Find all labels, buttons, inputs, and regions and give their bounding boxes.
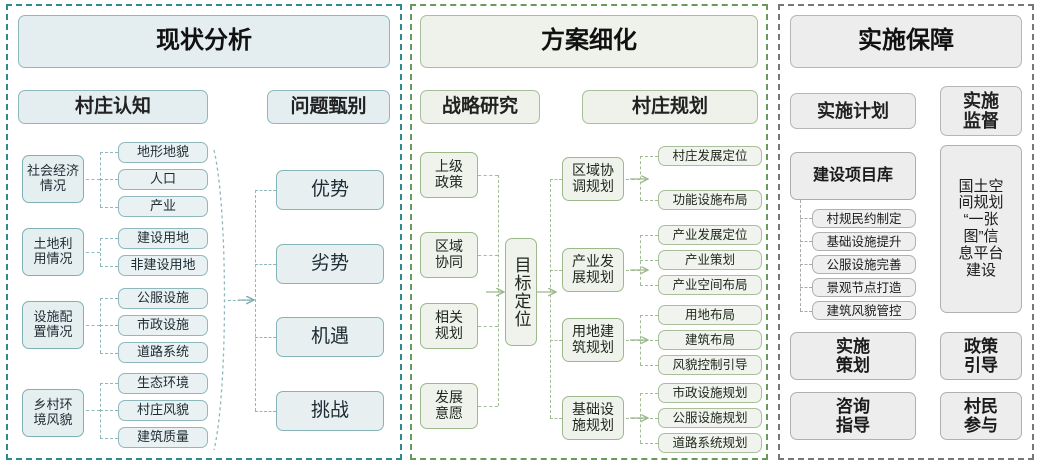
connector xyxy=(255,337,276,338)
connector xyxy=(100,238,118,239)
leaf-building-quality: 建筑质量 xyxy=(118,427,208,448)
connector xyxy=(800,264,812,265)
group-label: 设施配置情况 xyxy=(33,310,72,339)
connector xyxy=(100,298,118,299)
connector xyxy=(255,264,276,265)
connector xyxy=(100,266,118,267)
planning-industry-development: 产业发展规划 xyxy=(562,248,624,292)
leaf-village-regulations: 村规民约制定 xyxy=(812,209,916,228)
panel-title-scheme: 方案细化 xyxy=(420,15,758,68)
connector xyxy=(550,270,562,271)
panel-title-analysis: 现状分析 xyxy=(18,15,390,68)
connector xyxy=(478,255,498,256)
connector xyxy=(626,418,640,419)
tile-label: 实施策划 xyxy=(836,337,870,375)
connector xyxy=(640,418,658,419)
tile-policy-guidance: 政策引导 xyxy=(940,332,1022,380)
subheader-village-cognition: 村庄认知 xyxy=(18,90,208,124)
group-label: 土地利用情况 xyxy=(33,237,72,266)
connector xyxy=(100,179,118,180)
connector-swot-spine xyxy=(255,190,256,411)
leaf-public-service-improvement: 公服设施完善 xyxy=(812,255,916,274)
leaf-ecology: 生态环境 xyxy=(118,373,208,394)
leaf-road-system: 道路系统 xyxy=(118,342,208,363)
planning-land-building: 用地建筑规划 xyxy=(562,318,624,362)
strategy-label: 发展意愿 xyxy=(435,390,463,421)
connector xyxy=(86,179,100,180)
leaf-population: 人口 xyxy=(118,169,208,190)
connector xyxy=(640,200,658,201)
connector xyxy=(640,156,658,157)
planning-label: 用地建筑规划 xyxy=(572,324,614,355)
connector xyxy=(478,406,498,407)
subheader-implementation-plan: 实施计划 xyxy=(790,93,916,129)
leaf-municipal: 市政设施 xyxy=(118,315,208,336)
connector-strategy-spine xyxy=(498,175,499,406)
group-label: 乡村环境风貌 xyxy=(33,398,72,427)
diagram-root: 现状分析 村庄认知 问题甄别 社会经济情况 地形地貌 人口 产业 土地利用情况 … xyxy=(0,0,1040,467)
swot-opportunity: 机遇 xyxy=(276,317,384,357)
spatial-planning-platform: 国土空间规划“一张图”信息平台建设 xyxy=(940,145,1022,313)
leaf-style-control-guidance: 风貌控制引导 xyxy=(658,355,762,375)
connector xyxy=(800,218,812,219)
connector xyxy=(626,179,640,180)
connector xyxy=(640,285,658,286)
connector xyxy=(100,325,118,326)
connector xyxy=(640,156,641,200)
planning-label: 区域协调规划 xyxy=(572,163,614,194)
connector xyxy=(800,311,812,312)
subheader-implementation-supervision: 实施监督 xyxy=(940,86,1022,136)
connector xyxy=(626,340,640,341)
connector xyxy=(800,241,812,242)
group-land-use: 土地利用情况 xyxy=(22,228,84,276)
tile-label: 政策引导 xyxy=(964,337,998,375)
connector xyxy=(100,238,101,266)
swot-threat: 挑战 xyxy=(276,391,384,431)
leaf-industry-spatial-layout: 产业空间布局 xyxy=(658,275,762,295)
connector xyxy=(550,340,562,341)
tile-label: 村民参与 xyxy=(964,397,998,435)
leaf-land-layout: 用地布局 xyxy=(658,305,762,325)
connector xyxy=(478,175,498,176)
connector xyxy=(228,300,250,301)
project-library: 建设项目库 xyxy=(790,152,916,200)
strategy-label: 相关规划 xyxy=(435,310,463,341)
connector xyxy=(640,443,658,444)
connector-project-spine xyxy=(800,200,801,311)
connector xyxy=(100,383,118,384)
leaf-infrastructure-upgrade: 基础设施提升 xyxy=(812,232,916,251)
group-rural-environment: 乡村环境风貌 xyxy=(22,389,84,437)
core-goal-positioning: 目标定位 xyxy=(505,238,537,346)
tile-consulting-guidance: 咨询指导 xyxy=(790,392,916,440)
tile-label: 咨询指导 xyxy=(836,397,870,435)
leaf-industry-planning: 产业策划 xyxy=(658,250,762,270)
leaf-road-system-planning: 道路系统规划 xyxy=(658,433,762,453)
leaf-industry: 产业 xyxy=(118,196,208,217)
leaf-village-style: 村庄风貌 xyxy=(118,400,208,421)
connector xyxy=(640,315,658,316)
tile-villager-participation: 村民参与 xyxy=(940,392,1022,440)
planning-infrastructure: 基础设施规划 xyxy=(562,396,624,440)
leaf-municipal-planning: 市政设施规划 xyxy=(658,383,762,403)
connector xyxy=(626,270,640,271)
leaf-architectural-style-control: 建筑风貌管控 xyxy=(812,301,916,320)
planning-regional-coordination: 区域协调规划 xyxy=(562,157,624,201)
connector xyxy=(255,411,276,412)
panel-title-implementation: 实施保障 xyxy=(790,15,1022,68)
connector xyxy=(100,438,118,439)
leaf-building-layout: 建筑布局 xyxy=(658,330,762,350)
leaf-functional-facility-layout: 功能设施布局 xyxy=(658,190,762,210)
planning-label: 基础设施规划 xyxy=(572,402,614,433)
connector xyxy=(478,326,498,327)
connector xyxy=(100,410,118,411)
connector xyxy=(255,190,276,191)
connector xyxy=(640,365,658,366)
connector xyxy=(640,393,658,394)
connector xyxy=(640,260,658,261)
tile-implementation-strategy: 实施策划 xyxy=(790,332,916,380)
group-socio-economic: 社会经济情况 xyxy=(22,155,84,203)
leaf-non-construction-land: 非建设用地 xyxy=(118,255,208,276)
swot-weakness: 劣势 xyxy=(276,244,384,284)
subheader-strategy-research: 战略研究 xyxy=(420,90,540,124)
leaf-public-service-planning: 公服设施规划 xyxy=(658,408,762,428)
group-facilities: 设施配置情况 xyxy=(22,301,84,349)
leaf-landscape-node: 景观节点打造 xyxy=(812,278,916,297)
group-label: 社会经济情况 xyxy=(27,164,79,193)
subheader-label: 实施监督 xyxy=(963,91,999,131)
leaf-construction-land: 建设用地 xyxy=(118,228,208,249)
strategy-development-will: 发展意愿 xyxy=(420,383,478,429)
connector xyxy=(550,418,562,419)
planning-label: 产业发展规划 xyxy=(572,254,614,285)
swot-strength: 优势 xyxy=(276,170,384,210)
connector xyxy=(86,252,100,253)
strategy-regional-coordination: 区域协同 xyxy=(420,232,478,278)
connector xyxy=(86,410,100,411)
connector xyxy=(100,353,118,354)
connector xyxy=(100,152,118,153)
strategy-upper-policy: 上级政策 xyxy=(420,152,478,198)
platform-label: 国土空间规划“一张图”信息平台建设 xyxy=(958,179,1003,280)
connector xyxy=(100,207,118,208)
leaf-industry-positioning: 产业发展定位 xyxy=(658,225,762,245)
strategy-related-planning: 相关规划 xyxy=(420,303,478,349)
subheader-village-planning: 村庄规划 xyxy=(582,90,758,124)
connector-core-spine xyxy=(550,179,551,418)
connector xyxy=(550,179,562,180)
connector xyxy=(640,235,658,236)
subheader-problem-identification: 问题甄别 xyxy=(267,90,390,124)
leaf-terrain: 地形地貌 xyxy=(118,142,208,163)
strategy-label: 区域协同 xyxy=(435,239,463,270)
leaf-village-dev-positioning: 村庄发展定位 xyxy=(658,146,762,166)
connector xyxy=(800,287,812,288)
strategy-label: 上级政策 xyxy=(435,159,463,190)
leaf-public-service: 公服设施 xyxy=(118,288,208,309)
connector xyxy=(86,325,100,326)
connector xyxy=(640,340,658,341)
